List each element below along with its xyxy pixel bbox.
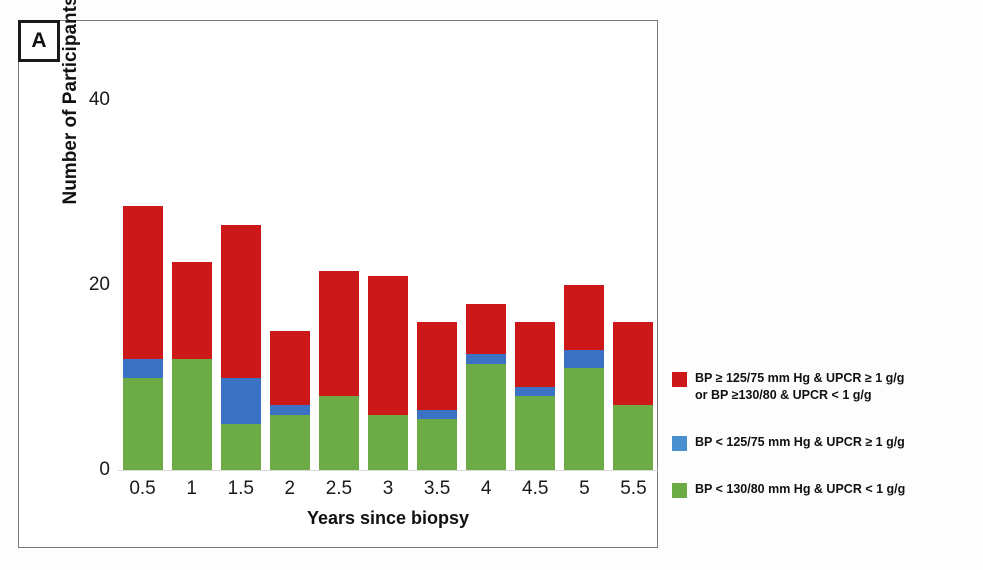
legend-item-2[interactable]: BP < 125/75 mm Hg & UPCR ≥ 1 g/g bbox=[672, 434, 972, 451]
x-tick-label: 1.5 bbox=[214, 478, 268, 500]
bar-segment-red bbox=[515, 322, 555, 387]
bar-segment-green bbox=[564, 368, 604, 470]
x-tick-label: 1 bbox=[165, 478, 219, 500]
bar-1[interactable] bbox=[172, 262, 212, 470]
legend-item-1[interactable]: BP ≥ 125/75 mm Hg & UPCR ≥ 1 g/gor BP ≥1… bbox=[672, 370, 972, 404]
chart-legend: BP ≥ 125/75 mm Hg & UPCR ≥ 1 g/gor BP ≥1… bbox=[672, 370, 972, 520]
bar-segment-red bbox=[172, 262, 212, 359]
x-tick-label: 5.5 bbox=[606, 478, 660, 500]
y-axis-ticks: 02040 bbox=[62, 0, 110, 470]
bar-segment-green bbox=[515, 396, 555, 470]
x-tick-label: 2 bbox=[263, 478, 317, 500]
legend-label: BP < 130/80 mm Hg & UPCR < 1 g/g bbox=[695, 481, 905, 498]
legend-item-3[interactable]: BP < 130/80 mm Hg & UPCR < 1 g/g bbox=[672, 481, 972, 498]
legend-label: BP < 125/75 mm Hg & UPCR ≥ 1 g/g bbox=[695, 434, 905, 451]
legend-label: BP ≥ 125/75 mm Hg & UPCR ≥ 1 g/gor BP ≥1… bbox=[695, 370, 904, 404]
bar-segment-red bbox=[613, 322, 653, 405]
legend-label-line2: or BP ≥130/80 & UPCR < 1 g/g bbox=[695, 387, 904, 404]
x-axis-title: Years since biopsy bbox=[118, 508, 658, 529]
x-tick-label: 4.5 bbox=[508, 478, 562, 500]
bar-series-group bbox=[118, 100, 658, 470]
panel-label-a: A bbox=[18, 20, 60, 62]
y-tick-label: 40 bbox=[70, 89, 110, 111]
bar-1-5[interactable] bbox=[221, 225, 261, 470]
bar-segment-green bbox=[270, 415, 310, 471]
bar-segment-red bbox=[123, 206, 163, 359]
bar-segment-red bbox=[466, 304, 506, 355]
x-tick-label: 3.5 bbox=[410, 478, 464, 500]
x-tick-label: 0.5 bbox=[116, 478, 170, 500]
legend-swatch-green bbox=[672, 483, 687, 498]
bar-segment-blue bbox=[466, 354, 506, 363]
x-tick-label: 3 bbox=[361, 478, 415, 500]
bar-3[interactable] bbox=[368, 276, 408, 470]
x-tick-label: 2.5 bbox=[312, 478, 366, 500]
bar-4[interactable] bbox=[466, 304, 506, 471]
x-tick-label: 5 bbox=[557, 478, 611, 500]
bar-2[interactable] bbox=[270, 331, 310, 470]
bar-segment-blue bbox=[123, 359, 163, 378]
bar-5-5[interactable] bbox=[613, 322, 653, 470]
bar-segment-red bbox=[270, 331, 310, 405]
y-tick-label: 20 bbox=[70, 274, 110, 296]
legend-swatch-red bbox=[672, 372, 687, 387]
bar-segment-red bbox=[221, 225, 261, 378]
bar-segment-blue bbox=[515, 387, 555, 396]
y-tick-label: 0 bbox=[70, 459, 110, 481]
bar-segment-green bbox=[466, 364, 506, 470]
bar-segment-blue bbox=[221, 378, 261, 424]
bar-segment-green bbox=[319, 396, 359, 470]
bar-segment-red bbox=[417, 322, 457, 410]
bar-segment-blue bbox=[417, 410, 457, 419]
bar-0-5[interactable] bbox=[123, 206, 163, 470]
bar-segment-green bbox=[368, 415, 408, 471]
bar-2-5[interactable] bbox=[319, 271, 359, 470]
figure-root: A Number of Participants 02040 0.511.522… bbox=[0, 0, 983, 570]
bar-segment-blue bbox=[564, 350, 604, 369]
x-tick-label: 4 bbox=[459, 478, 513, 500]
x-axis-ticks: 0.511.522.533.544.555.5 bbox=[118, 478, 658, 506]
bar-segment-red bbox=[368, 276, 408, 415]
legend-swatch-blue bbox=[672, 436, 687, 451]
bar-segment-green bbox=[613, 405, 653, 470]
bar-segment-green bbox=[172, 359, 212, 470]
bar-segment-red bbox=[564, 285, 604, 350]
bar-segment-green bbox=[221, 424, 261, 470]
bar-4-5[interactable] bbox=[515, 322, 555, 470]
bar-segment-blue bbox=[270, 405, 310, 414]
bar-5[interactable] bbox=[564, 285, 604, 470]
bar-segment-green bbox=[123, 378, 163, 471]
x-axis-line bbox=[118, 470, 658, 471]
bar-3-5[interactable] bbox=[417, 322, 457, 470]
bar-segment-green bbox=[417, 419, 457, 470]
bar-segment-red bbox=[319, 271, 359, 396]
